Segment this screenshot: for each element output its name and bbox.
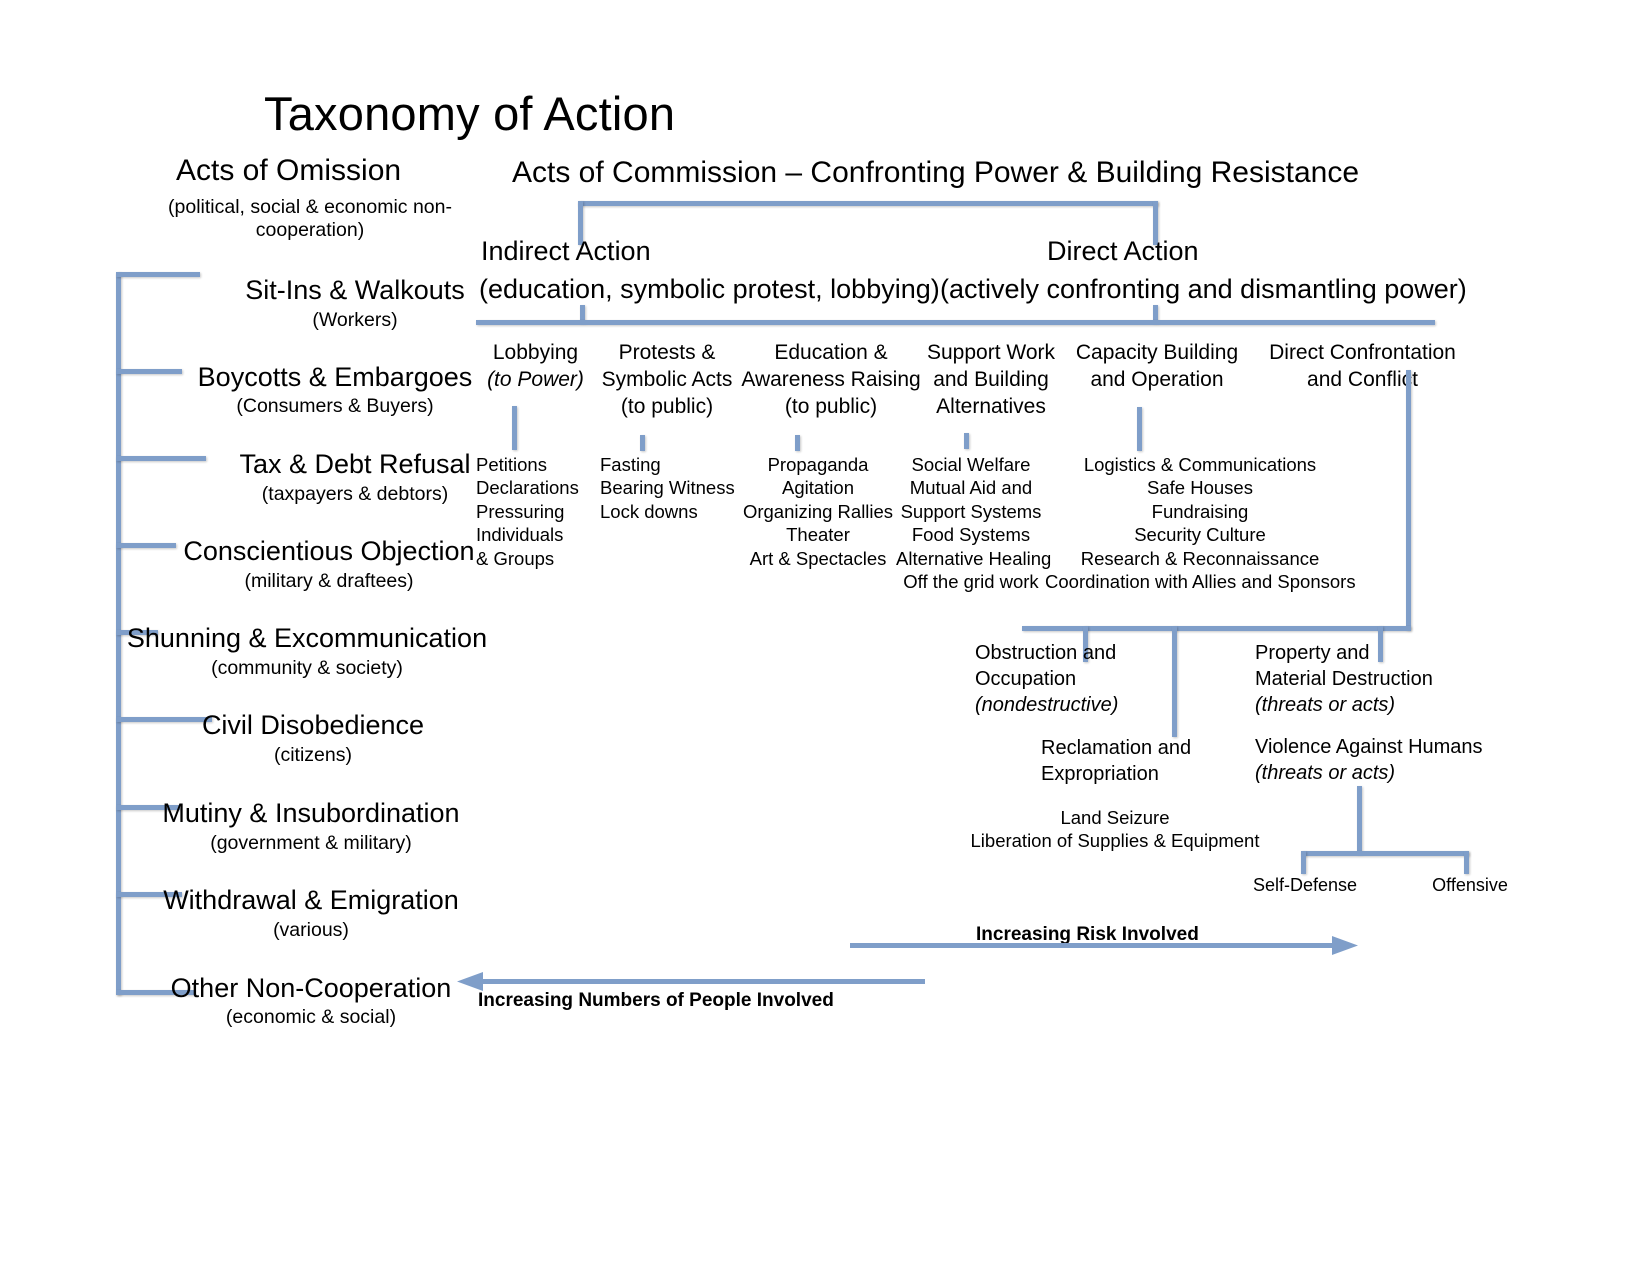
list-item: Food Systems bbox=[896, 523, 1046, 546]
conflict-obstruction-line2: Occupation bbox=[975, 666, 1118, 692]
conflict-reclamation-line1: Reclamation and bbox=[1041, 735, 1191, 761]
column-heading-line: Support Work bbox=[905, 340, 1077, 367]
conflict-property-line1: Property and bbox=[1255, 640, 1433, 666]
conflict-reclamation-line2: Expropriation bbox=[1041, 761, 1191, 787]
column-heading-line: and Operation bbox=[1058, 367, 1256, 394]
branch-label-indirect: Indirect Action bbox=[481, 236, 651, 268]
list-item: Alternative Healing bbox=[896, 547, 1046, 570]
violence-bracket-bar bbox=[1301, 851, 1469, 856]
lobbying-connector bbox=[512, 406, 517, 450]
list-item: Declarations bbox=[476, 476, 579, 499]
omission-item-actors-3: (military & draftees) bbox=[104, 570, 554, 593]
omission-item-label-4: Shunning & Excommunication bbox=[82, 623, 532, 655]
column-heading-education: Education & Awareness Raising (to public… bbox=[740, 340, 922, 421]
column-items-support-work: Social Welfare Mutual Aid and Support Sy… bbox=[896, 453, 1046, 594]
conflict-property-qualifier: (threats or acts) bbox=[1255, 692, 1433, 718]
conflict-obstruction-line1: Obstruction and bbox=[975, 640, 1118, 666]
violence-child-offensive: Offensive bbox=[1395, 875, 1545, 896]
column-heading-line: (to public) bbox=[583, 394, 751, 421]
list-item: Mutual Aid and bbox=[896, 476, 1046, 499]
conflict-reclamation-items: Land Seizure Liberation of Supplies & Eq… bbox=[920, 806, 1310, 853]
column-heading-line: Direct Confrontation bbox=[1255, 340, 1470, 367]
list-item: Organizing Rallies bbox=[730, 500, 906, 523]
omission-item-actors-8: (economic & social) bbox=[86, 1006, 536, 1029]
list-item: Pressuring bbox=[476, 500, 579, 523]
omission-item-actors-5: (citizens) bbox=[88, 744, 538, 767]
omission-item-actors-7: (various) bbox=[86, 919, 536, 942]
list-item: Research & Reconnaissance bbox=[1045, 547, 1355, 570]
capacity-building-connector bbox=[1137, 407, 1142, 451]
list-item: Liberation of Supplies & Equipment bbox=[920, 829, 1310, 852]
risk-arrow bbox=[850, 932, 1360, 960]
violence-leg-offensive bbox=[1464, 851, 1469, 874]
conflict-property: Property and Material Destruction (threa… bbox=[1255, 640, 1433, 718]
omission-item-actors-1: (Consumers & Buyers) bbox=[110, 395, 560, 418]
column-heading-line: and Conflict bbox=[1255, 367, 1470, 394]
list-item: Off the grid work bbox=[896, 570, 1046, 593]
people-arrow bbox=[455, 968, 925, 996]
violence-child-self-defense: Self-Defense bbox=[1230, 875, 1380, 896]
column-heading-line: Capacity Building bbox=[1058, 340, 1256, 367]
conflict-violence-line1: Violence Against Humans bbox=[1255, 734, 1483, 760]
list-item: Individuals bbox=[476, 523, 579, 546]
support-work-connector bbox=[964, 433, 969, 449]
column-heading-line: Education & bbox=[740, 340, 922, 367]
omission-item-label-6: Mutiny & Insubordination bbox=[86, 798, 536, 830]
list-item: Petitions bbox=[476, 453, 579, 476]
omission-item-actors-6: (government & military) bbox=[86, 832, 536, 855]
column-heading-support-work: Support Work and Building Alternatives bbox=[905, 340, 1077, 421]
list-item: Safe Houses bbox=[1045, 476, 1355, 499]
branch-subtitle-direct: (actively confronting and dismantling po… bbox=[940, 274, 1467, 306]
conflict-reclamation: Reclamation and Expropriation bbox=[1041, 735, 1191, 787]
column-heading-line: Protests & bbox=[583, 340, 751, 367]
list-item: Social Welfare bbox=[896, 453, 1046, 476]
education-connector bbox=[795, 435, 800, 451]
conflict-property-line2: Material Destruction bbox=[1255, 666, 1433, 692]
column-heading-line: Symbolic Acts bbox=[583, 367, 751, 394]
column-heading-protests: Protests & Symbolic Acts (to public) bbox=[583, 340, 751, 421]
violence-leg-self-defense bbox=[1301, 851, 1306, 874]
omission-subtitle: (political, social & economic non-cooper… bbox=[155, 196, 465, 242]
column-heading-capacity-building: Capacity Building and Operation bbox=[1058, 340, 1256, 394]
list-item: Lock downs bbox=[600, 500, 735, 523]
list-item: & Groups bbox=[476, 547, 579, 570]
omission-item-label-5: Civil Disobedience bbox=[88, 710, 538, 742]
conflict-violence-qualifier: (threats or acts) bbox=[1255, 760, 1483, 786]
conflict-bracket-bar bbox=[1022, 626, 1411, 631]
list-item: Coordination with Allies and Sponsors bbox=[1045, 570, 1355, 593]
list-item: Fundraising bbox=[1045, 500, 1355, 523]
column-heading-line: Awareness Raising bbox=[740, 367, 922, 394]
branch-subtitle-indirect: (education, symbolic protest, lobbying) bbox=[479, 274, 940, 306]
conflict-leg-reclamation bbox=[1172, 626, 1177, 737]
conflict-obstruction-qualifier: (nondestructive) bbox=[975, 692, 1118, 718]
conflict-violence: Violence Against Humans (threats or acts… bbox=[1255, 734, 1483, 786]
column-heading-line: Alternatives bbox=[905, 394, 1077, 421]
list-item: Bearing Witness bbox=[600, 476, 735, 499]
list-item: Land Seizure bbox=[920, 806, 1310, 829]
list-item: Art & Spectacles bbox=[730, 547, 906, 570]
protests-connector bbox=[640, 435, 645, 451]
branch-label-direct: Direct Action bbox=[1047, 236, 1199, 268]
taxonomy-diagram: Taxonomy of Action Acts of Omission (pol… bbox=[0, 0, 1650, 1275]
column-items-capacity-building: Logistics & Communications Safe Houses F… bbox=[1045, 453, 1355, 594]
column-heading-direct-confrontation: Direct Confrontation and Conflict bbox=[1255, 340, 1470, 394]
commission-heading: Acts of Commission – Confronting Power &… bbox=[512, 155, 1359, 190]
direct-confrontation-connector bbox=[1406, 370, 1411, 630]
list-item: Propaganda bbox=[730, 453, 906, 476]
list-item: Theater bbox=[730, 523, 906, 546]
violence-stem bbox=[1357, 786, 1362, 854]
list-item: Support Systems bbox=[896, 500, 1046, 523]
omission-item-label-7: Withdrawal & Emigration bbox=[86, 885, 536, 917]
page-title: Taxonomy of Action bbox=[264, 86, 675, 141]
column-heading-line: and Building bbox=[905, 367, 1077, 394]
list-item: Logistics & Communications bbox=[1045, 453, 1355, 476]
commission-bracket-top bbox=[578, 201, 1158, 206]
list-item: Agitation bbox=[730, 476, 906, 499]
list-item: Security Culture bbox=[1045, 523, 1355, 546]
column-items-lobbying: Petitions Declarations Pressuring Indivi… bbox=[476, 453, 579, 570]
column-heading-line: (to public) bbox=[740, 394, 922, 421]
column-items-protests: Fasting Bearing Witness Lock downs bbox=[600, 453, 735, 523]
columns-rail bbox=[476, 320, 1435, 325]
conflict-obstruction: Obstruction and Occupation (nondestructi… bbox=[975, 640, 1118, 718]
omission-heading: Acts of Omission bbox=[176, 153, 401, 188]
omission-item-actors-4: (community & society) bbox=[82, 657, 532, 680]
list-item: Fasting bbox=[600, 453, 735, 476]
column-items-education: Propaganda Agitation Organizing Rallies … bbox=[730, 453, 906, 570]
